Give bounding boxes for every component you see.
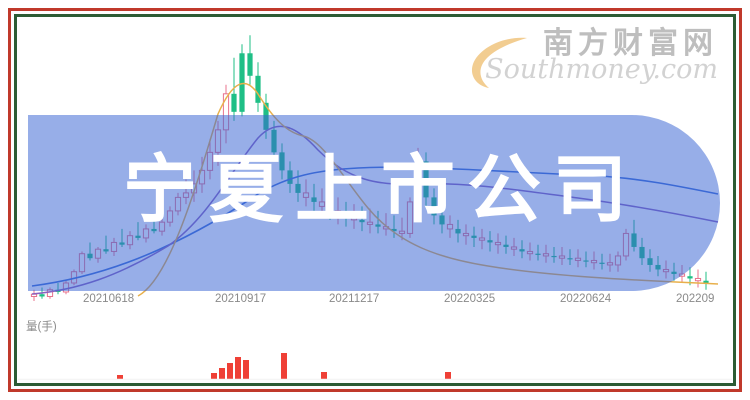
candle-body: [79, 254, 84, 272]
candle-body: [535, 254, 540, 255]
x-axis-tick-label: 202209: [676, 293, 714, 305]
candle-body: [87, 254, 92, 259]
candle-body: [663, 269, 668, 271]
x-axis-tick-label: 20220325: [444, 293, 495, 305]
candle-body: [527, 251, 532, 253]
candle-body: [127, 236, 132, 245]
volume-bar: [235, 357, 241, 379]
volume-bar: [281, 353, 287, 379]
candle-body: [687, 276, 692, 278]
logo-english-text: Southmoney.com: [485, 56, 718, 83]
candle-body: [655, 265, 660, 270]
candle-body: [567, 258, 572, 259]
candle-body: [95, 249, 100, 258]
candle-body: [695, 278, 700, 280]
candle-body: [255, 76, 260, 103]
candle-body: [639, 247, 644, 258]
x-axis-tick-label: 20210917: [215, 293, 266, 305]
candle-body: [479, 238, 484, 240]
candle-body: [591, 260, 596, 262]
candle-body: [231, 94, 236, 112]
candle-body: [647, 258, 652, 265]
volume-bar: [117, 375, 123, 379]
headline-text: 宁夏上市公司: [18, 153, 732, 227]
candle-body: [135, 236, 140, 238]
candle-body: [543, 254, 548, 256]
volume-bar: [445, 372, 451, 379]
candle-body: [495, 242, 500, 244]
screenshot-root: 宁夏上市公司 南方财富网 Southmoney.com 202106182021…: [0, 0, 750, 400]
chart-stage: 宁夏上市公司 南方财富网 Southmoney.com 202106182021…: [18, 18, 732, 382]
candle-body: [599, 263, 604, 264]
candle-body: [471, 236, 476, 238]
candle-body: [679, 274, 684, 276]
candle-body: [63, 283, 68, 292]
candle-body: [615, 256, 620, 265]
x-axis-tick-label: 20220624: [560, 293, 611, 305]
candle-body: [519, 249, 524, 251]
candle-body: [631, 233, 636, 247]
x-axis-labels: 2021061820210917202112172022032520220624…: [18, 293, 732, 313]
volume-bar-series: [18, 328, 732, 380]
candle-body: [559, 256, 564, 258]
candle-body: [503, 245, 508, 247]
candle-body: [607, 263, 612, 265]
candle-body: [575, 258, 580, 260]
x-axis-tick-label: 20210618: [83, 293, 134, 305]
candle-body: [111, 242, 116, 251]
candle-body: [103, 249, 108, 251]
site-logo-watermark: 南方财富网 Southmoney.com: [485, 28, 718, 83]
candle-body: [583, 260, 588, 261]
volume-bar: [227, 363, 233, 379]
candle-body: [551, 256, 556, 257]
candle-body: [119, 242, 124, 244]
candle-body: [623, 233, 628, 256]
candle-body: [239, 53, 244, 112]
x-axis-tick-label: 20211217: [329, 293, 379, 305]
volume-bar: [211, 373, 217, 379]
candle-body: [247, 53, 252, 76]
volume-bar: [321, 372, 327, 379]
volume-bar: [219, 368, 225, 379]
volume-pane: 量(手): [18, 318, 732, 382]
candle-body: [671, 272, 676, 274]
candle-body: [463, 233, 468, 235]
volume-bar: [243, 360, 249, 379]
candle-body: [511, 247, 516, 249]
candle-body: [487, 240, 492, 242]
